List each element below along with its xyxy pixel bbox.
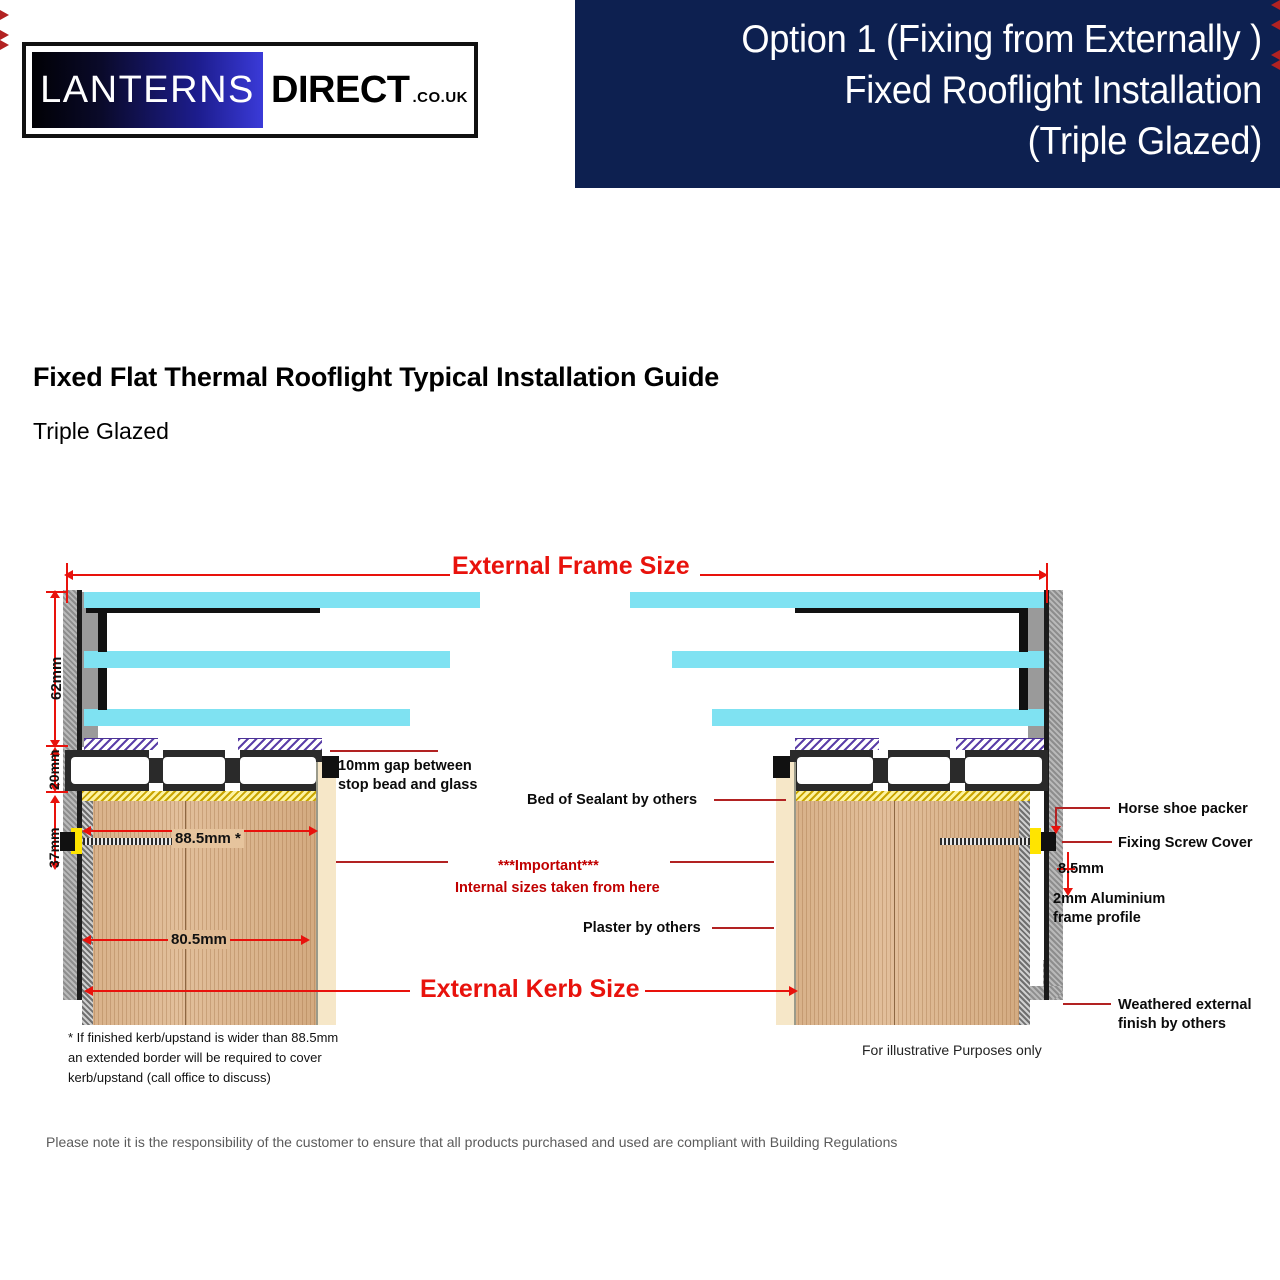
callout-screwcover-arrow bbox=[0, 50, 1280, 60]
dim-62-tick-top bbox=[46, 591, 68, 593]
callout-sealant-label: Bed of Sealant by others bbox=[527, 791, 697, 810]
profile-chamber-inner-right bbox=[965, 757, 1042, 784]
frame-size-extension-right bbox=[1046, 563, 1048, 603]
bed-of-sealant-left bbox=[82, 791, 322, 801]
glass-pane-inner-left bbox=[84, 709, 410, 726]
frame-size-extension-left bbox=[66, 563, 68, 603]
weathered-finish-left bbox=[63, 590, 77, 1000]
glass-pane-inner-right bbox=[712, 709, 1044, 726]
profile-gap-lower2-left bbox=[225, 783, 240, 791]
callout-plaster-label: Plaster by others bbox=[583, 919, 701, 938]
external-kerb-size-label: External Kerb Size bbox=[420, 975, 640, 1004]
glass-pane-middle-right bbox=[672, 651, 1044, 668]
illustrative-note: For illustrative Purposes only bbox=[862, 1042, 1042, 1058]
callout-weathered-line bbox=[1063, 1003, 1111, 1005]
glass-spacer-edge-upper-left bbox=[98, 608, 107, 652]
kerb-joint-line-right bbox=[894, 801, 895, 1025]
profile-gap-lower2-right bbox=[950, 783, 965, 791]
timber-kerb-right bbox=[794, 801, 1026, 1025]
callout-important-line-left bbox=[336, 861, 448, 863]
callout-sealant-line bbox=[714, 799, 786, 801]
frame-size-line-left bbox=[70, 574, 450, 576]
glass-pane-middle-left bbox=[84, 651, 450, 668]
callout-packer-arrow bbox=[1051, 826, 1061, 834]
glass-pane-outer-right bbox=[630, 592, 1044, 608]
profile-gap-upper-left bbox=[149, 750, 163, 758]
kerb-size-line-right bbox=[645, 990, 795, 992]
callout-plaster-arrow bbox=[0, 40, 1280, 50]
plaster-left bbox=[318, 762, 336, 1025]
glass-spacer-edge-upper-right bbox=[1019, 608, 1028, 652]
dim-37-arrow-top bbox=[50, 795, 60, 803]
fixing-screw-left bbox=[83, 838, 173, 845]
dim-805-arrow-right bbox=[301, 935, 310, 945]
profile-gap-upper2-left bbox=[225, 750, 240, 758]
bed-of-sealant-right bbox=[790, 791, 1030, 801]
kerb-size-arrow-left bbox=[84, 986, 93, 996]
dim-20-label: 20mm bbox=[46, 750, 62, 790]
dim-20-tick-bottom bbox=[46, 791, 68, 793]
callout-weathered-arrow bbox=[0, 60, 1280, 70]
profile-gap-lower-left bbox=[149, 783, 163, 791]
callout-important-line1: ***Important*** bbox=[498, 857, 599, 876]
callout-screwcover-label: Fixing Screw Cover bbox=[1118, 834, 1253, 853]
profile-gap-lower-right bbox=[873, 783, 888, 791]
aluminium-outer-skin-right bbox=[1044, 590, 1049, 1000]
callout-plaster-line bbox=[712, 927, 774, 929]
callout-important-arrow-left bbox=[0, 20, 1280, 30]
kerb-size-line-left bbox=[90, 990, 410, 992]
dim-805-arrow-left bbox=[82, 935, 91, 945]
profile-chamber-middle-left bbox=[163, 757, 225, 784]
callout-packer-line bbox=[1055, 807, 1110, 809]
fixing-screw-cover-left bbox=[60, 832, 75, 851]
callout-packer-label: Horse shoe packer bbox=[1118, 800, 1248, 819]
dim-85-label: 8.5mm bbox=[1058, 860, 1104, 879]
external-frame-size-label: External Frame Size bbox=[452, 552, 690, 581]
glass-spacer-top-left bbox=[86, 608, 320, 613]
dim-62-label: 62mm bbox=[48, 657, 65, 700]
dim-885-arrow-right bbox=[309, 826, 318, 836]
dim-885-label: 88.5mm * bbox=[172, 829, 244, 848]
callout-gap-arrow bbox=[0, 0, 1280, 10]
profile-gap-upper-right bbox=[873, 750, 888, 758]
frame-size-arrow-left bbox=[64, 570, 73, 580]
stop-bead-left bbox=[322, 756, 339, 778]
callout-sealant-arrow bbox=[0, 10, 1280, 20]
plaster-edge-left bbox=[316, 762, 318, 1025]
profile-gap-upper2-right bbox=[950, 750, 965, 758]
building-regs-disclaimer: Please note it is the responsibility of … bbox=[46, 1134, 897, 1150]
fixing-screw-right bbox=[940, 838, 1030, 845]
callout-important-line2: Internal sizes taken from here bbox=[455, 879, 660, 898]
profile-chamber-outer-left bbox=[71, 757, 149, 784]
frame-size-arrow-right bbox=[1039, 570, 1048, 580]
kerb-footnote: * If finished kerb/upstand is wider than… bbox=[68, 1028, 338, 1088]
callout-screwcover-line bbox=[1062, 841, 1112, 843]
callout-gap-line bbox=[330, 750, 438, 752]
fixing-band-right bbox=[1019, 801, 1030, 1025]
profile-chamber-middle-right bbox=[888, 757, 950, 784]
callout-weathered-label: Weathered external finish by others bbox=[1118, 996, 1252, 1034]
glass-spacer-edge-lower-left bbox=[98, 668, 107, 710]
callout-gap-label: 10mm gap between stop bead and glass bbox=[338, 757, 477, 795]
glass-spacer-top-right bbox=[795, 608, 1027, 613]
fixing-screw-cover-right bbox=[1041, 832, 1056, 851]
glass-pane-outer-left bbox=[84, 592, 480, 608]
callout-important-arrow-right bbox=[0, 30, 1280, 40]
profile-chamber-inner-left bbox=[240, 757, 316, 784]
glass-spacer-edge-lower-right bbox=[1019, 668, 1028, 710]
callout-important-line-right bbox=[670, 861, 774, 863]
kerb-size-arrow-right bbox=[789, 986, 798, 996]
frame-size-line-right bbox=[700, 574, 1046, 576]
horse-shoe-packer-right bbox=[1030, 828, 1041, 854]
dim-805-label: 80.5mm bbox=[168, 930, 230, 949]
dim-37-label: 37mm bbox=[46, 828, 62, 868]
callout-aluminium-label: 2mm Aluminium frame profile bbox=[1053, 890, 1165, 928]
profile-chamber-outer-right bbox=[797, 757, 873, 784]
weathered-finish-right bbox=[1049, 590, 1063, 1000]
installation-cross-section-diagram: External Frame Size External Kerb Size 6… bbox=[0, 0, 1280, 1280]
stop-bead-right bbox=[773, 756, 790, 778]
dim-885-arrow-left bbox=[82, 826, 91, 836]
